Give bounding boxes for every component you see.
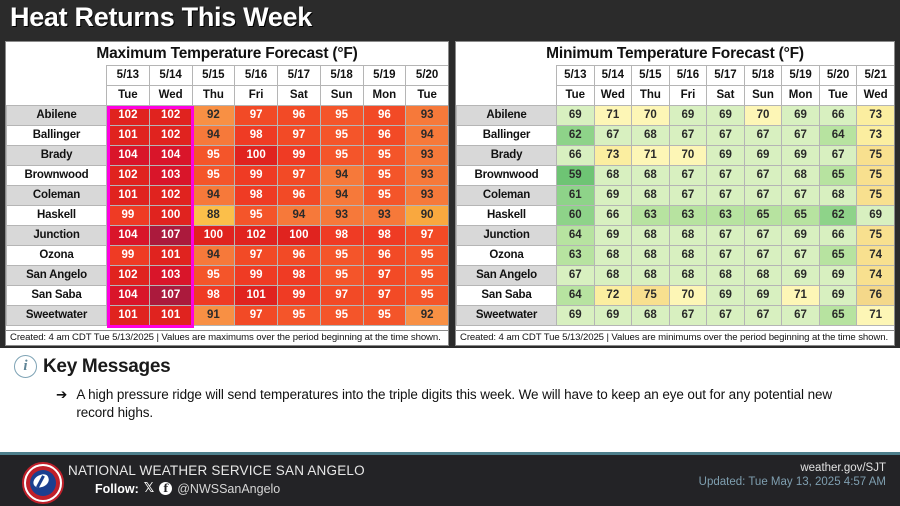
table-row: Coleman616968676767676875	[457, 186, 895, 206]
temperature-cell: 67	[669, 306, 707, 326]
temperature-cell: 95	[192, 146, 235, 166]
city-label: Abilene	[457, 106, 557, 126]
column-header-day: Tue	[406, 86, 449, 106]
temperature-cell: 68	[594, 166, 632, 186]
temperature-cell: 68	[707, 266, 745, 286]
header-corner-blank	[457, 66, 557, 106]
column-header-date: 5/18	[320, 66, 363, 86]
temperature-cell: 91	[192, 306, 235, 326]
temperature-cell: 96	[278, 246, 321, 266]
temperature-cell: 69	[819, 266, 857, 286]
temperature-cell: 102	[235, 226, 278, 246]
temperature-cell: 62	[819, 206, 857, 226]
temperature-cell: 97	[406, 226, 449, 246]
table-row: Ozona99101949796959695	[7, 246, 449, 266]
table-row: Coleman101102949896949593	[7, 186, 449, 206]
column-header-day: Sat	[278, 86, 321, 106]
temperature-cell: 95	[320, 106, 363, 126]
footer-right: weather.gov/SJT Updated: Tue May 13, 202…	[699, 462, 886, 488]
max-panel-title: Maximum Temperature Forecast (°F)	[6, 42, 448, 65]
temperature-cell: 96	[278, 186, 321, 206]
temperature-cell: 67	[744, 166, 782, 186]
temperature-cell: 102	[107, 166, 150, 186]
column-header-day: Thu	[192, 86, 235, 106]
temperature-cell: 88	[192, 206, 235, 226]
column-header-date: 5/14	[594, 66, 632, 86]
column-header-date: 5/16	[235, 66, 278, 86]
temperature-cell: 71	[632, 146, 670, 166]
temperature-cell: 100	[192, 226, 235, 246]
temperature-cell: 96	[363, 126, 406, 146]
temperature-cell: 66	[819, 106, 857, 126]
city-label: Haskell	[7, 206, 107, 226]
column-header-day: Sat	[707, 86, 745, 106]
temperature-cell: 71	[782, 286, 820, 306]
temperature-cell: 98	[278, 266, 321, 286]
temperature-cell: 107	[149, 286, 192, 306]
temperature-cell: 65	[819, 166, 857, 186]
table-row: San Angelo102103959998959795	[7, 266, 449, 286]
temperature-cell: 67	[707, 246, 745, 266]
table-row: Ballinger101102949897959694	[7, 126, 449, 146]
temperature-cell: 69	[782, 266, 820, 286]
column-header-day: Mon	[782, 86, 820, 106]
table-row: Haskell99100889594939390	[7, 206, 449, 226]
column-header-date: 5/14	[149, 66, 192, 86]
temperature-cell: 95	[406, 286, 449, 306]
temperature-cell: 97	[278, 126, 321, 146]
temperature-cell: 68	[669, 266, 707, 286]
temperature-cell: 98	[192, 286, 235, 306]
temperature-cell: 67	[707, 166, 745, 186]
temperature-cell: 69	[594, 226, 632, 246]
temperature-cell: 69	[744, 146, 782, 166]
temperature-cell: 69	[857, 206, 895, 226]
key-messages-body: ➔ A high pressure ridge will send temper…	[56, 386, 866, 422]
column-header-date: 5/15	[632, 66, 670, 86]
temperature-cell: 92	[406, 306, 449, 326]
temperature-cell: 101	[235, 286, 278, 306]
min-footnote: Created: 4 am CDT Tue 5/13/2025 | Values…	[456, 330, 894, 345]
temperature-cell: 68	[594, 246, 632, 266]
temperature-cell: 94	[192, 246, 235, 266]
temperature-cell: 67	[782, 306, 820, 326]
column-header-date: 5/13	[557, 66, 595, 86]
temperature-cell: 69	[594, 186, 632, 206]
temperature-cell: 64	[557, 226, 595, 246]
temperature-cell: 70	[632, 106, 670, 126]
temperature-cell: 102	[149, 126, 192, 146]
temperature-cell: 68	[632, 306, 670, 326]
column-header-day: Sun	[744, 86, 782, 106]
temperature-cell: 67	[782, 246, 820, 266]
temperature-cell: 99	[235, 166, 278, 186]
temperature-cell: 69	[707, 146, 745, 166]
temperature-cell: 67	[707, 226, 745, 246]
nws-logo-icon	[22, 462, 64, 504]
temperature-cell: 68	[632, 186, 670, 206]
key-messages-title: Key Messages	[43, 356, 170, 378]
table-row: Abilene697170696970696673	[457, 106, 895, 126]
temperature-cell: 62	[557, 126, 595, 146]
column-header-date: 5/16	[669, 66, 707, 86]
temperature-cell: 61	[557, 186, 595, 206]
city-label: San Saba	[7, 286, 107, 306]
temperature-cell: 90	[406, 206, 449, 226]
max-temperature-panel: Maximum Temperature Forecast (°F) 5/135/…	[5, 41, 449, 346]
temperature-cell: 101	[107, 306, 150, 326]
column-header-date: 5/19	[363, 66, 406, 86]
temperature-cell: 98	[320, 226, 363, 246]
temperature-cell: 68	[669, 226, 707, 246]
table-row: Brownwood102103959997949593	[7, 166, 449, 186]
city-label: San Angelo	[457, 266, 557, 286]
table-row: Junction104107100102100989897	[7, 226, 449, 246]
column-header-date: 5/21	[857, 66, 895, 86]
temperature-cell: 96	[278, 106, 321, 126]
max-temperature-table: 5/135/145/155/165/175/185/195/20TueWedTh…	[6, 65, 449, 326]
temperature-cell: 66	[594, 206, 632, 226]
temperature-cell: 67	[594, 126, 632, 146]
temperature-cell: 70	[744, 106, 782, 126]
temperature-cell: 60	[557, 206, 595, 226]
temperature-cell: 63	[557, 246, 595, 266]
temperature-cell: 101	[107, 126, 150, 146]
header-corner-blank	[7, 66, 107, 106]
temperature-cell: 97	[235, 306, 278, 326]
temperature-cell: 69	[707, 106, 745, 126]
city-label: Brownwood	[457, 166, 557, 186]
temperature-cell: 69	[819, 286, 857, 306]
temperature-cell: 101	[149, 246, 192, 266]
temperature-cell: 75	[857, 186, 895, 206]
follow-line: Follow: 𝕏 f @NWSSanAngelo	[95, 481, 280, 496]
city-label: Brownwood	[7, 166, 107, 186]
temperature-cell: 94	[278, 206, 321, 226]
column-header-day: Wed	[149, 86, 192, 106]
temperature-cell: 67	[744, 126, 782, 146]
temperature-cell: 100	[149, 206, 192, 226]
city-label: San Angelo	[7, 266, 107, 286]
temperature-cell: 67	[744, 246, 782, 266]
temperature-cell: 95	[320, 266, 363, 286]
temperature-cell: 69	[707, 286, 745, 306]
key-message-text: A high pressure ridge will send temperat…	[76, 386, 866, 422]
temperature-cell: 66	[819, 226, 857, 246]
temperature-cell: 98	[235, 186, 278, 206]
table-row: Abilene102102929796959693	[7, 106, 449, 126]
column-header-date: 5/18	[744, 66, 782, 86]
temperature-cell: 67	[557, 266, 595, 286]
table-header-dates: 5/135/145/155/165/175/185/195/205/21	[457, 66, 895, 86]
temperature-cell: 67	[782, 126, 820, 146]
temperature-cell: 102	[149, 186, 192, 206]
temperature-cell: 71	[594, 106, 632, 126]
temperature-cell: 69	[669, 106, 707, 126]
temperature-cell: 95	[363, 166, 406, 186]
temperature-cell: 99	[107, 246, 150, 266]
temperature-cell: 95	[406, 266, 449, 286]
temperature-cell: 97	[320, 286, 363, 306]
temperature-cell: 95	[320, 146, 363, 166]
temperature-cell: 64	[557, 286, 595, 306]
temperature-cell: 104	[149, 146, 192, 166]
table-row: Brady1041049510099959593	[7, 146, 449, 166]
temperature-cell: 73	[857, 106, 895, 126]
website-url[interactable]: weather.gov/SJT	[699, 462, 886, 474]
city-label: Sweetwater	[7, 306, 107, 326]
temperature-cell: 95	[363, 306, 406, 326]
page-title: Heat Returns This Week	[10, 2, 312, 33]
temperature-cell: 68	[744, 266, 782, 286]
table-header-dates: 5/135/145/155/165/175/185/195/20	[7, 66, 449, 86]
temperature-cell: 65	[819, 246, 857, 266]
temperature-cell: 93	[406, 166, 449, 186]
column-header-day: Wed	[857, 86, 895, 106]
city-label: Ballinger	[7, 126, 107, 146]
temperature-cell: 97	[235, 246, 278, 266]
temperature-cell: 67	[744, 226, 782, 246]
table-row: Brady667371706969696775	[457, 146, 895, 166]
column-header-day: Tue	[557, 86, 595, 106]
temperature-cell: 97	[363, 266, 406, 286]
column-header-date: 5/19	[782, 66, 820, 86]
temperature-cell: 107	[149, 226, 192, 246]
table-row: Sweetwater696968676767676571	[457, 306, 895, 326]
office-name: NATIONAL WEATHER SERVICE SAN ANGELO	[68, 463, 365, 478]
temperature-cell: 67	[744, 306, 782, 326]
temperature-cell: 101	[149, 306, 192, 326]
facebook-icon[interactable]: f	[159, 482, 172, 495]
temperature-cell: 99	[278, 146, 321, 166]
temperature-cell: 75	[857, 146, 895, 166]
temperature-cell: 68	[632, 266, 670, 286]
temperature-cell: 63	[707, 206, 745, 226]
temperature-cell: 63	[669, 206, 707, 226]
temperature-cell: 67	[819, 146, 857, 166]
temperature-cell: 69	[782, 146, 820, 166]
temperature-cell: 68	[632, 246, 670, 266]
temperature-cell: 96	[363, 246, 406, 266]
temperature-cell: 59	[557, 166, 595, 186]
temperature-cell: 97	[278, 166, 321, 186]
table-row: Sweetwater101101919795959592	[7, 306, 449, 326]
temperature-cell: 69	[594, 306, 632, 326]
temperature-cell: 101	[107, 186, 150, 206]
table-row: San Angelo676868686868696974	[457, 266, 895, 286]
max-footnote: Created: 4 am CDT Tue 5/13/2025 | Values…	[6, 330, 448, 345]
temperature-cell: 68	[632, 126, 670, 146]
temperature-cell: 68	[632, 166, 670, 186]
key-messages-header: i Key Messages	[14, 355, 170, 378]
temperature-cell: 95	[363, 186, 406, 206]
city-label: Coleman	[457, 186, 557, 206]
column-header-date: 5/13	[107, 66, 150, 86]
temperature-cell: 98	[363, 226, 406, 246]
min-temperature-panel: Minimum Temperature Forecast (°F) 5/135/…	[455, 41, 895, 346]
temperature-cell: 100	[235, 146, 278, 166]
temperature-cell: 97	[363, 286, 406, 306]
temperature-cell: 74	[857, 266, 895, 286]
temperature-cell: 69	[744, 286, 782, 306]
temperature-cell: 102	[107, 266, 150, 286]
table-row: Haskell606663636365656269	[457, 206, 895, 226]
min-temperature-table: 5/135/145/155/165/175/185/195/205/21TueW…	[456, 65, 895, 326]
column-header-day: Fri	[235, 86, 278, 106]
column-header-day: Wed	[594, 86, 632, 106]
social-handle[interactable]: @NWSSanAngelo	[177, 482, 280, 496]
temperature-cell: 72	[594, 286, 632, 306]
updated-timestamp: Updated: Tue May 13, 2025 4:57 AM	[699, 476, 886, 488]
city-label: Ozona	[7, 246, 107, 266]
city-label: Brady	[457, 146, 557, 166]
temperature-cell: 93	[406, 106, 449, 126]
temperature-cell: 68	[632, 226, 670, 246]
temperature-cell: 65	[744, 206, 782, 226]
temperature-cell: 67	[669, 166, 707, 186]
column-header-date: 5/20	[819, 66, 857, 86]
temperature-cell: 95	[320, 126, 363, 146]
column-header-day: Tue	[107, 86, 150, 106]
temperature-cell: 67	[782, 186, 820, 206]
temperature-cell: 69	[557, 306, 595, 326]
column-header-date: 5/20	[406, 66, 449, 86]
column-header-date: 5/15	[192, 66, 235, 86]
temperature-cell: 95	[192, 166, 235, 186]
temperature-cell: 67	[707, 306, 745, 326]
city-label: Junction	[7, 226, 107, 246]
temperature-cell: 70	[669, 286, 707, 306]
min-panel-title: Minimum Temperature Forecast (°F)	[456, 42, 894, 65]
temperature-cell: 93	[320, 206, 363, 226]
temperature-cell: 76	[857, 286, 895, 306]
temperature-cell: 93	[406, 146, 449, 166]
graphic-root: Heat Returns This Week Maximum Temperatu…	[0, 0, 900, 506]
temperature-cell: 75	[632, 286, 670, 306]
temperature-cell: 94	[406, 126, 449, 146]
temperature-cell: 95	[320, 306, 363, 326]
x-twitter-icon[interactable]: 𝕏	[144, 481, 154, 496]
temperature-cell: 93	[406, 186, 449, 206]
temperature-cell: 73	[857, 126, 895, 146]
temperature-cell: 94	[320, 166, 363, 186]
temperature-cell: 64	[819, 126, 857, 146]
temperature-cell: 99	[278, 286, 321, 306]
temperature-cell: 67	[707, 126, 745, 146]
temperature-cell: 95	[278, 306, 321, 326]
temperature-cell: 93	[363, 206, 406, 226]
temperature-cell: 94	[192, 186, 235, 206]
temperature-cell: 75	[857, 166, 895, 186]
temperature-cell: 73	[594, 146, 632, 166]
column-header-day: Tue	[819, 86, 857, 106]
temperature-cell: 103	[149, 266, 192, 286]
temperature-cell: 69	[557, 106, 595, 126]
key-messages-section: i Key Messages ➔ A high pressure ridge w…	[0, 348, 900, 455]
column-header-day: Sun	[320, 86, 363, 106]
footer-bar: NATIONAL WEATHER SERVICE SAN ANGELO Foll…	[0, 452, 900, 506]
city-label: San Saba	[457, 286, 557, 306]
column-header-date: 5/17	[278, 66, 321, 86]
temperature-cell: 74	[857, 246, 895, 266]
city-label: Coleman	[7, 186, 107, 206]
temperature-cell: 92	[192, 106, 235, 126]
temperature-cell: 95	[406, 246, 449, 266]
temperature-cell: 94	[320, 186, 363, 206]
temperature-cell: 99	[235, 266, 278, 286]
temperature-cell: 98	[235, 126, 278, 146]
temperature-cell: 95	[235, 206, 278, 226]
column-header-day: Mon	[363, 86, 406, 106]
temperature-cell: 67	[707, 186, 745, 206]
temperature-cell: 67	[744, 186, 782, 206]
temperature-cell: 68	[782, 166, 820, 186]
table-row: Junction646968686767696675	[457, 226, 895, 246]
city-label: Junction	[457, 226, 557, 246]
temperature-cell: 100	[278, 226, 321, 246]
info-icon: i	[14, 355, 37, 378]
table-row: San Saba1041079810199979795	[7, 286, 449, 306]
table-row: Ballinger626768676767676473	[457, 126, 895, 146]
temperature-cell: 95	[192, 266, 235, 286]
temperature-cell: 68	[819, 186, 857, 206]
table-row: San Saba647275706969716976	[457, 286, 895, 306]
temperature-cell: 102	[149, 106, 192, 126]
temperature-cell: 68	[594, 266, 632, 286]
city-label: Abilene	[7, 106, 107, 126]
temperature-cell: 96	[363, 106, 406, 126]
table-row: Brownwood596868676767686575	[457, 166, 895, 186]
temperature-cell: 66	[557, 146, 595, 166]
temperature-cell: 97	[235, 106, 278, 126]
temperature-cell: 67	[669, 186, 707, 206]
temperature-cell: 95	[320, 246, 363, 266]
city-label: Ballinger	[457, 126, 557, 146]
temperature-cell: 65	[819, 306, 857, 326]
table-row: Ozona636868686767676574	[457, 246, 895, 266]
temperature-cell: 103	[149, 166, 192, 186]
temperature-cell: 68	[669, 246, 707, 266]
temperature-cell: 63	[632, 206, 670, 226]
column-header-day: Thu	[632, 86, 670, 106]
temperature-cell: 95	[363, 146, 406, 166]
temperature-cell: 69	[782, 106, 820, 126]
temperature-cell: 104	[107, 146, 150, 166]
temperature-cell: 104	[107, 286, 150, 306]
city-label: Ozona	[457, 246, 557, 266]
temperature-cell: 102	[107, 106, 150, 126]
arrow-icon: ➔	[56, 386, 67, 422]
column-header-day: Fri	[669, 86, 707, 106]
temperature-cell: 99	[107, 206, 150, 226]
follow-label: Follow:	[95, 482, 139, 496]
temperature-cell: 71	[857, 306, 895, 326]
temperature-cell: 75	[857, 226, 895, 246]
city-label: Brady	[7, 146, 107, 166]
column-header-date: 5/17	[707, 66, 745, 86]
city-label: Haskell	[457, 206, 557, 226]
temperature-cell: 67	[669, 126, 707, 146]
temperature-cell: 70	[669, 146, 707, 166]
city-label: Sweetwater	[457, 306, 557, 326]
temperature-cell: 65	[782, 206, 820, 226]
temperature-cell: 94	[192, 126, 235, 146]
temperature-cell: 104	[107, 226, 150, 246]
temperature-cell: 69	[782, 226, 820, 246]
